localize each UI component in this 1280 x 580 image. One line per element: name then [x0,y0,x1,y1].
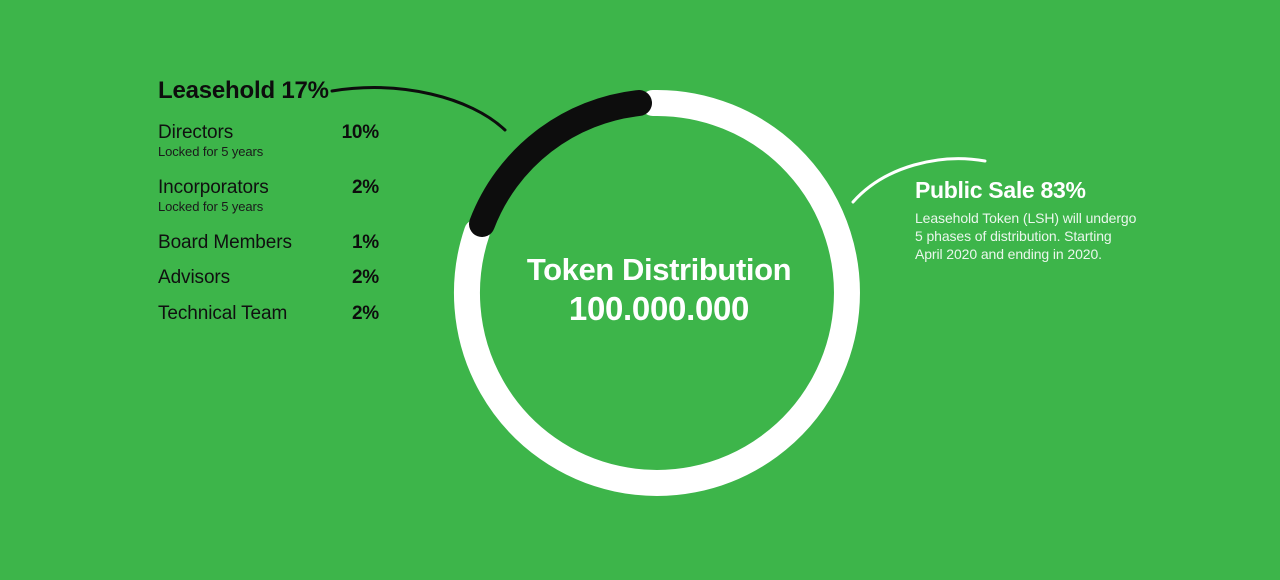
legend-title: Leasehold 17% [158,78,378,104]
legend-item-label: Technical Team [158,303,378,324]
callout-title: Public Sale 83% [915,178,1175,203]
donut-center-total: 100.000.000 [459,288,859,329]
legend-item-technical-team: Technical Team 2% [158,303,378,324]
legend-item-note: Locked for 5 years [158,199,378,215]
legend-item-percent: 2% [352,267,379,289]
legend-item-advisors: Advisors 2% [158,267,378,288]
leasehold-legend: Leasehold 17% Directors Locked for 5 yea… [158,78,378,324]
legend-item-note: Locked for 5 years [158,144,378,160]
legend-item-label: Incorporators [158,177,378,198]
donut-center-label: Token Distribution 100.000.000 [459,252,859,329]
legend-item-label: Advisors [158,267,378,288]
infographic-canvas: Token Distribution 100.000.000 Leasehold… [0,0,1280,580]
callout-description-line-1: Leasehold Token (LSH) will undergo [915,210,1175,228]
legend-item-board-members: Board Members 1% [158,232,378,253]
callout-description-line-2: 5 phases of distribution. Starting [915,228,1175,246]
legend-item-directors: Directors Locked for 5 years 10% [158,122,378,159]
public-sale-callout: Public Sale 83% Leasehold Token (LSH) wi… [915,178,1175,264]
callout-description: Leasehold Token (LSH) will undergo 5 pha… [915,210,1175,264]
callout-description-line-3: April 2020 and ending in 2020. [915,246,1175,264]
legend-item-percent: 2% [352,177,379,199]
legend-item-label: Board Members [158,232,378,253]
legend-item-incorporators: Incorporators Locked for 5 years 2% [158,177,378,214]
legend-item-percent: 2% [352,303,379,325]
legend-item-percent: 10% [342,122,379,144]
donut-center-title: Token Distribution [459,252,859,288]
donut-segment-leasehold [482,103,639,224]
legend-item-percent: 1% [352,232,379,254]
